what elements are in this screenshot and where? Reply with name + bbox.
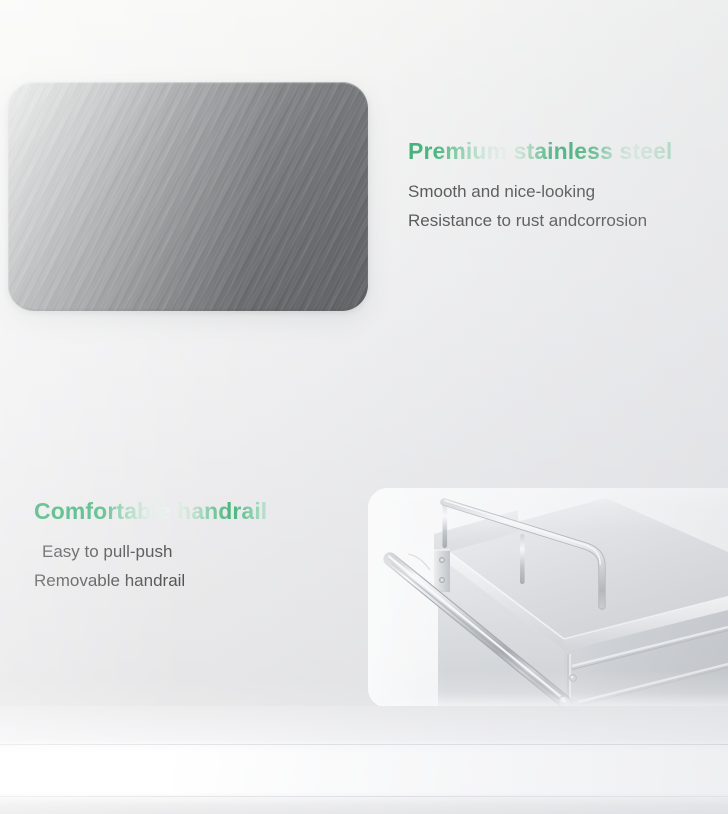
handle-mounting-bracket (434, 550, 450, 592)
handle-mount-stud (570, 675, 577, 682)
guard-rail-post-middle (520, 534, 525, 584)
feature-heading-comfortable-handrail: Comfortable handrail (34, 498, 364, 525)
brushed-stainless-steel-plate (8, 82, 368, 311)
feature-line-smooth-and-nice-looking: Smooth and nice-looking (408, 179, 720, 205)
shelf-edge-line-top (0, 744, 728, 745)
bottom-shelf-band (0, 706, 728, 814)
feature-heading-premium-stainless-steel: Premium stainless steel (408, 138, 720, 165)
feature-line-resistance-to-rust: Resistance to rust andcorrosion (408, 208, 720, 234)
guard-rail-post-left (443, 502, 448, 548)
cart-illustration (368, 488, 728, 708)
feature-line-easy-to-pull-push: Easy to pull-push (34, 539, 364, 565)
feature-block-premium-stainless-steel: Premium stainless steel Smooth and nice-… (408, 138, 720, 234)
stainless-steel-cart-handrail-photo (368, 488, 728, 708)
feature-line-removable-handrail: Removable handrail (34, 568, 364, 594)
feature-block-comfortable-handrail: Comfortable handrail Easy to pull-push R… (34, 498, 364, 594)
shelf-edge-line-bottom (0, 796, 728, 797)
product-feature-page: Premium stainless steel Smooth and nice-… (0, 0, 728, 814)
steel-edge-highlight (8, 82, 368, 311)
